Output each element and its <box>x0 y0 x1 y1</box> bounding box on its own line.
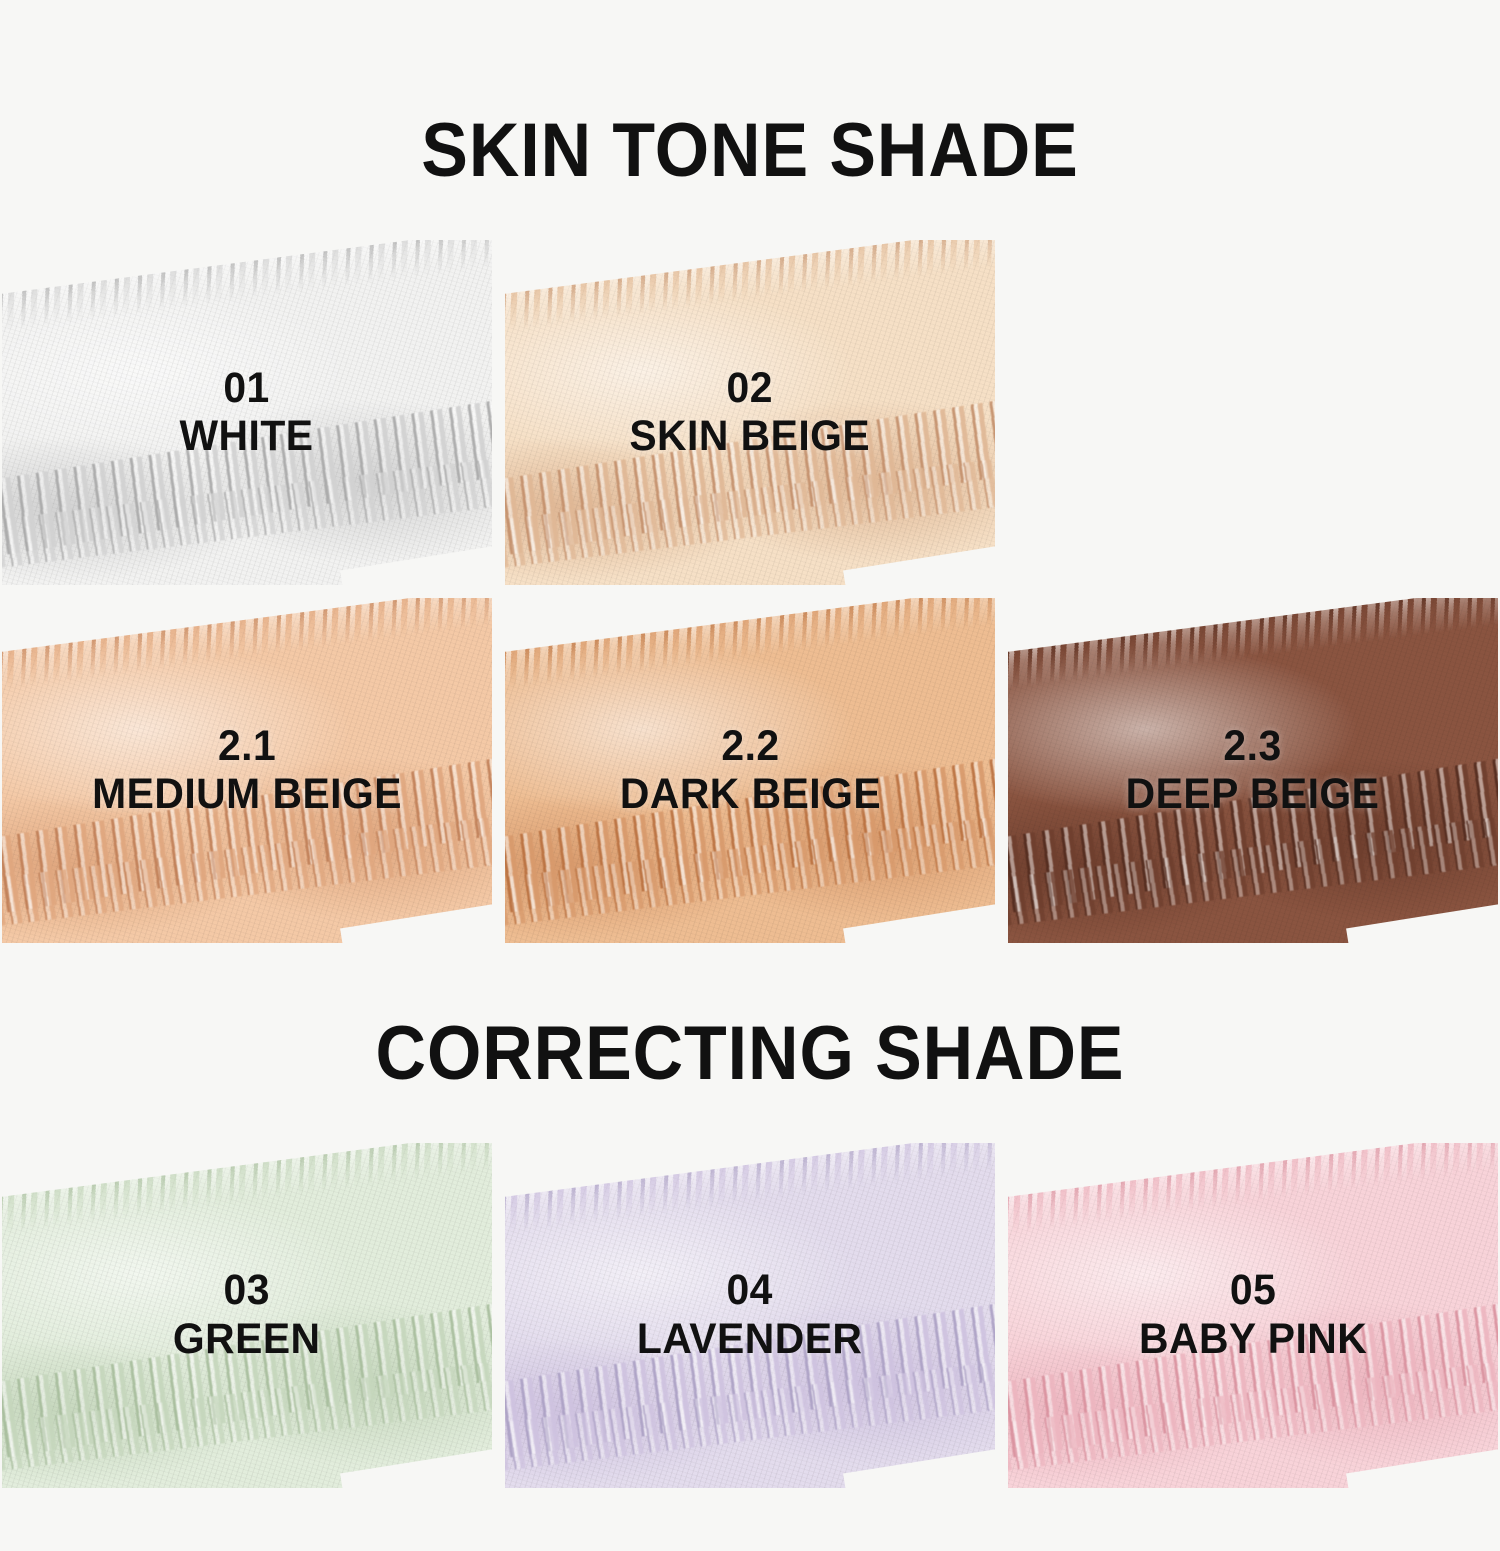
shade-name: BABY PINK <box>1139 1317 1367 1362</box>
shade-label: 04LAVENDER <box>631 1268 868 1361</box>
shade-code: 04 <box>637 1268 862 1313</box>
shade-name: MEDIUM BEIGE <box>92 772 402 817</box>
shade-name: LAVENDER <box>637 1317 862 1362</box>
shade-label: 01WHITE <box>176 366 317 459</box>
shade-code: 2.3 <box>1126 724 1380 769</box>
skin-tone-shade-grid: 01WHITE02SKIN BEIGE2.1MEDIUM BEIGE2.2DAR… <box>0 240 1500 943</box>
shade-name: DARK BEIGE <box>619 772 880 817</box>
shade-code: 02 <box>630 366 871 411</box>
shade-chart-page: SKIN TONE SHADE 01WHITE02SKIN BEIGE2.1ME… <box>0 51 1500 1551</box>
shade-name: DEEP BEIGE <box>1126 772 1380 817</box>
shade-swatch-tile[interactable]: 05BABY PINK <box>1008 1143 1498 1488</box>
shade-label: 2.3DEEP BEIGE <box>1119 724 1386 817</box>
page-title-skin-tone-shade: SKIN TONE SHADE <box>60 51 1440 189</box>
shade-label: 02SKIN BEIGE <box>623 366 877 459</box>
shade-code: 2.1 <box>92 724 402 769</box>
shade-swatch-tile[interactable]: 01WHITE <box>2 240 492 585</box>
shade-label: 03GREEN <box>169 1268 324 1361</box>
shade-name: GREEN <box>173 1317 321 1362</box>
shade-swatch-tile[interactable]: 04LAVENDER <box>505 1143 995 1488</box>
empty-grid-cell <box>1008 240 1498 585</box>
page-title-correcting-shade: CORRECTING SHADE <box>60 994 1440 1092</box>
shade-swatch-tile[interactable]: 2.1MEDIUM BEIGE <box>2 598 492 943</box>
shade-swatch-tile[interactable]: 02SKIN BEIGE <box>505 240 995 585</box>
shade-swatch-tile[interactable]: 03GREEN <box>2 1143 492 1488</box>
shade-swatch-tile[interactable]: 2.2DARK BEIGE <box>505 598 995 943</box>
correcting-shade-grid: 03GREEN04LAVENDER05BABY PINK <box>0 1143 1500 1488</box>
shade-name: SKIN BEIGE <box>630 414 871 459</box>
shade-code: 03 <box>173 1268 321 1313</box>
shade-name: WHITE <box>180 414 314 459</box>
shade-label: 2.2DARK BEIGE <box>613 724 888 817</box>
shade-code: 01 <box>180 366 314 411</box>
shade-label: 05BABY PINK <box>1133 1268 1373 1361</box>
shade-code: 05 <box>1139 1268 1367 1313</box>
shade-swatch-tile[interactable]: 2.3DEEP BEIGE <box>1008 598 1498 943</box>
shade-code: 2.2 <box>619 724 880 769</box>
shade-label: 2.1MEDIUM BEIGE <box>84 724 410 817</box>
